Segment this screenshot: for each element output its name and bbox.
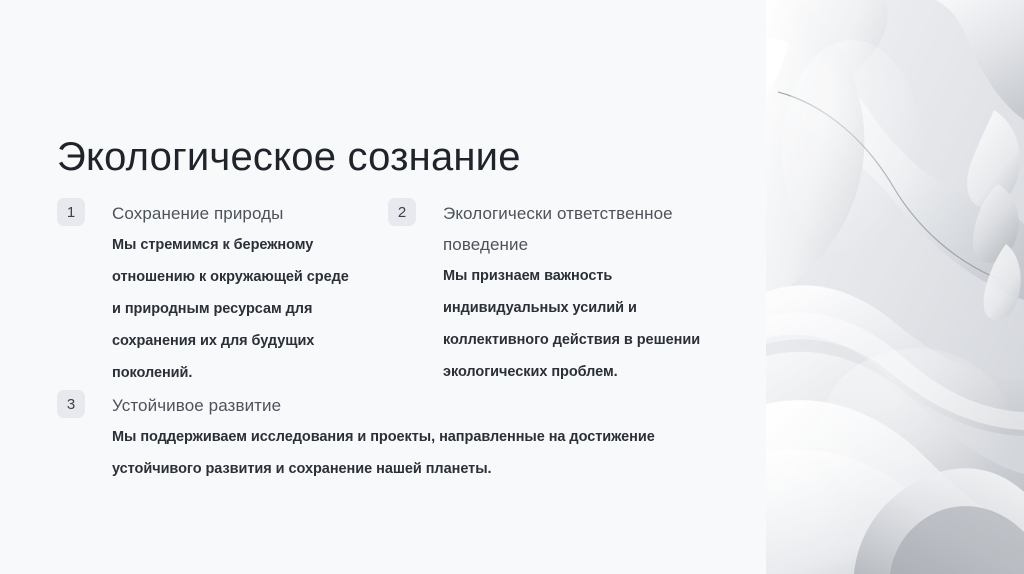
- content-column: Экологическое сознание 1 Сохранение прир…: [0, 0, 766, 574]
- item-number-badge: 2: [388, 198, 416, 226]
- slide: Экологическое сознание 1 Сохранение прир…: [0, 0, 1024, 574]
- list-item: 1 Сохранение природы Мы стремимся к бере…: [57, 198, 357, 389]
- item-number-badge: 1: [57, 198, 85, 226]
- item-body: Сохранение природы Мы стремимся к бережн…: [112, 198, 357, 389]
- item-text: Мы стремимся к бережному отношению к окр…: [112, 229, 352, 389]
- abstract-waves-graphic: [766, 0, 1024, 574]
- item-text: Мы признаем важность индивидуальных усил…: [443, 260, 705, 388]
- page-title: Экологическое сознание: [57, 133, 521, 181]
- item-body: Устойчивое развитие Мы поддерживаем иссл…: [112, 390, 717, 485]
- list-item: 3 Устойчивое развитие Мы поддерживаем ис…: [57, 390, 717, 485]
- decorative-abstract-image: [766, 0, 1024, 574]
- item-heading: Сохранение природы: [112, 198, 357, 229]
- item-heading: Устойчивое развитие: [112, 390, 717, 421]
- list-item: 2 Экологически ответственное поведение М…: [388, 198, 708, 388]
- item-text: Мы поддерживаем исследования и проекты, …: [112, 421, 712, 485]
- item-number-badge: 3: [57, 390, 85, 418]
- item-body: Экологически ответственное поведение Мы …: [443, 198, 708, 388]
- item-heading: Экологически ответственное поведение: [443, 198, 693, 260]
